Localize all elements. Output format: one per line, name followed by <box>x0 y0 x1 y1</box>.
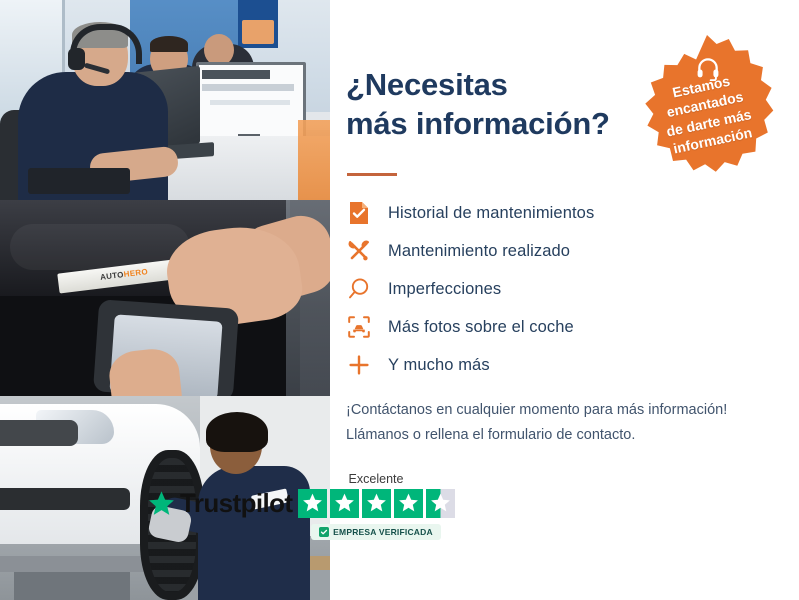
feature-label: Historial de mantenimientos <box>388 204 594 223</box>
contact-paragraph: ¡Contáctanos en cualquier momento para m… <box>346 398 776 449</box>
monitor-screen-header <box>202 70 270 79</box>
trustpilot-star-rating <box>294 489 458 518</box>
car-lift-arm <box>0 556 150 572</box>
checklist-document-icon <box>346 200 372 226</box>
verified-company-badge: EMPRESA VERIFICADA <box>311 524 441 540</box>
feature-item-maintenance-done: Mantenimiento realizado <box>346 232 776 270</box>
car-lift-base <box>14 572 130 600</box>
headset-earcup <box>68 48 85 70</box>
star-tile-3 <box>362 489 391 518</box>
feature-label: Mantenimiento realizado <box>388 242 570 261</box>
verified-company-label: EMPRESA VERIFICADA <box>333 527 433 537</box>
title-divider <box>347 173 397 176</box>
page-title: ¿Necesitas más información? <box>346 66 646 144</box>
agent-two-hair <box>150 36 188 52</box>
trustpilot-logo[interactable]: Trustpilot <box>148 488 292 519</box>
contact-paragraph-line-2: Llámanos o rellena el formulario de cont… <box>346 423 776 448</box>
contact-paragraph-line-1: ¡Contáctanos en cualquier momento para m… <box>346 398 776 423</box>
trustpilot-star-icon <box>148 490 175 517</box>
star-tile-1 <box>298 489 327 518</box>
page-title-line-2: más información? <box>346 105 646 144</box>
autohero-more-info-banner: AUTOHERO <box>0 0 799 600</box>
verified-shield-icon <box>319 527 329 537</box>
magnifier-icon <box>346 276 372 302</box>
feature-item-much-more: Y mucho más <box>346 346 776 384</box>
monitor-screen-row-secondary <box>210 100 290 105</box>
mechanic-hair <box>206 412 268 452</box>
feature-label: Y mucho más <box>388 356 490 375</box>
car-lower-grille <box>0 488 130 510</box>
star-tile-4 <box>394 489 423 518</box>
feature-item-maintenance-history: Historial de mantenimientos <box>346 194 776 232</box>
orange-equipment <box>298 120 330 200</box>
star-tile-2 <box>330 489 359 518</box>
feature-list: Historial de mantenimientos Mantenimient… <box>346 194 776 384</box>
trustpilot-wordmark: Trustpilot <box>180 488 292 519</box>
feature-item-imperfections: Imperfecciones <box>346 270 776 308</box>
call-center-agents-photo <box>0 0 330 200</box>
feature-item-more-photos: Más fotos sobre el coche <box>346 308 776 346</box>
trustpilot-rating-label: Excelente <box>294 472 458 486</box>
star-tile-5-half <box>426 489 455 518</box>
wrench-screwdriver-icon <box>346 238 372 264</box>
trustpilot-rating-block: Excelente <box>294 472 458 540</box>
feature-label: Imperfecciones <box>388 280 501 299</box>
page-title-line-1: ¿Necesitas <box>346 66 646 105</box>
desk-tablet <box>28 168 130 194</box>
feature-label: Más fotos sobre el coche <box>388 318 574 337</box>
happy-to-help-badge: Estamos encantados de darte más informac… <box>631 33 783 185</box>
monitor-screen-row <box>202 84 294 91</box>
plus-icon <box>346 352 372 378</box>
technician-measuring-car-photo: AUTOHERO <box>0 200 330 396</box>
car-upper-grille <box>0 420 78 446</box>
trustpilot-widget[interactable]: Trustpilot Excelente <box>148 472 458 556</box>
wall-poster-image <box>242 20 274 44</box>
car-photo-frame-icon <box>346 314 372 340</box>
